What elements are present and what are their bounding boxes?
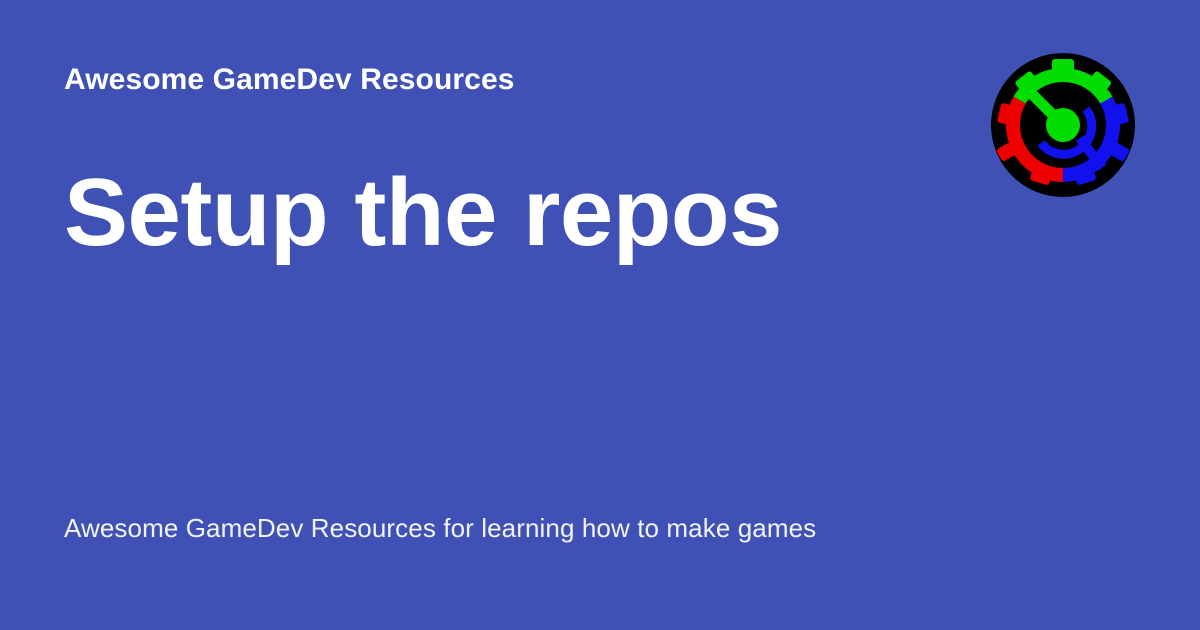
page-title: Setup the repos [64, 160, 1136, 266]
description: Awesome GameDev Resources for learning h… [64, 512, 1136, 546]
site-title: Awesome GameDev Resources [64, 62, 515, 98]
og-card: Awesome GameDev Resources [0, 0, 1200, 630]
